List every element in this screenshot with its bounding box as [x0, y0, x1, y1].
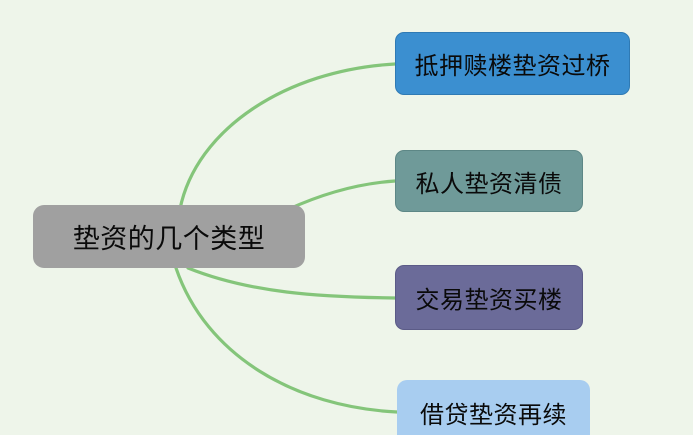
mindmap-branch-label-2: 私人垫资清债 — [416, 164, 563, 199]
connector-root-to-branch-0 — [180, 64, 395, 209]
connector-root-to-branch-3 — [176, 268, 397, 412]
mindmap-branch-label-3: 交易垫资买楼 — [416, 280, 563, 315]
mindmap-root-label: 垫资的几个类型 — [73, 217, 266, 256]
mindmap-root-node[interactable]: 垫资的几个类型 — [33, 205, 305, 268]
mindmap-branch-node-1[interactable]: 抵押赎楼垫资过桥 — [395, 32, 630, 95]
mindmap-branch-node-4[interactable]: 借贷垫资再续 — [397, 380, 590, 435]
mindmap-canvas: 垫资的几个类型 抵押赎楼垫资过桥 私人垫资清债 交易垫资买楼 借贷垫资再续 — [0, 0, 693, 435]
connector-root-to-branch-2 — [188, 268, 395, 298]
mindmap-branch-label-1: 抵押赎楼垫资过桥 — [415, 46, 611, 81]
mindmap-branch-label-4: 借贷垫资再续 — [420, 395, 567, 430]
mindmap-branch-node-2[interactable]: 私人垫资清债 — [395, 150, 583, 212]
mindmap-branch-node-3[interactable]: 交易垫资买楼 — [395, 265, 583, 330]
